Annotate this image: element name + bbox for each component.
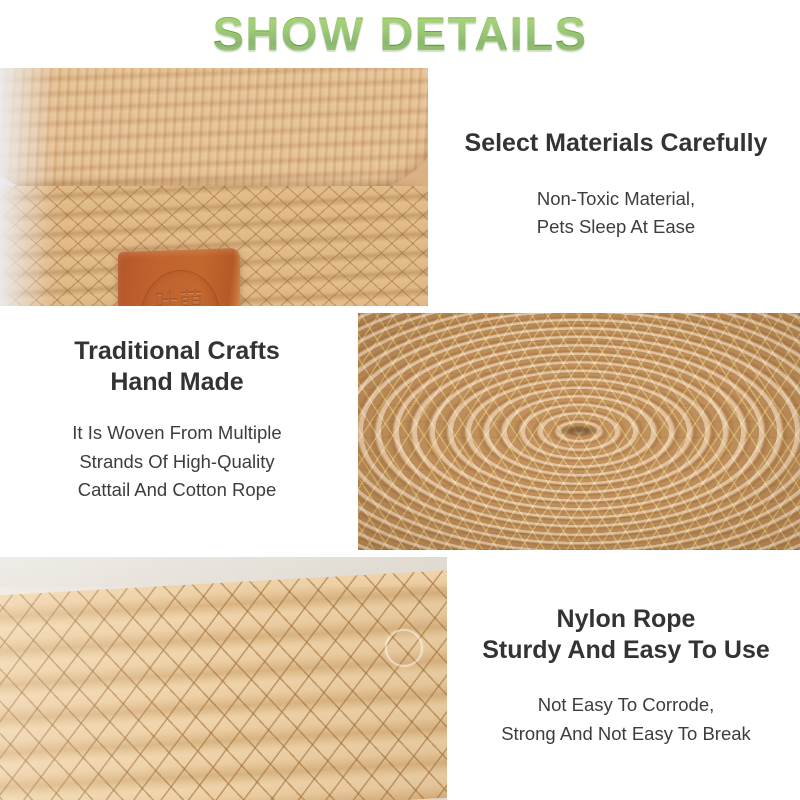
- feature-block-materials: Select Materials Carefully Non-Toxic Mat…: [432, 128, 800, 242]
- feature-body-crafts: It Is Woven From Multiple Strands Of Hig…: [6, 419, 348, 505]
- feature-body-materials: Non-Toxic Material, Pets Sleep At Ease: [432, 185, 800, 242]
- feature-block-crafts: Traditional Crafts Hand Made It Is Woven…: [6, 336, 348, 505]
- product-photo-basket-rim: 叶萌: [0, 68, 428, 306]
- page-title-bar: SHOW DETAILS: [0, 2, 800, 64]
- photo-left-fade: [0, 68, 54, 306]
- feature-heading-materials: Select Materials Carefully: [432, 128, 800, 159]
- feature-heading-nylon: Nylon Rope Sturdy And Easy To Use: [452, 604, 800, 665]
- side-wall-highlight: [0, 587, 447, 800]
- page-title: SHOW DETAILS: [213, 10, 588, 57]
- product-photo-side-wall: [0, 557, 447, 800]
- base-vignette: [358, 313, 800, 550]
- product-photo-woven-base: [358, 313, 800, 550]
- embossed-logo-mark: [385, 629, 423, 667]
- feature-heading-crafts: Traditional Crafts Hand Made: [6, 336, 348, 397]
- tag-logo-glyphs: 叶萌: [118, 288, 240, 306]
- feature-block-nylon: Nylon Rope Sturdy And Easy To Use Not Ea…: [452, 604, 800, 748]
- leather-brand-tag: 叶萌: [118, 248, 240, 306]
- feature-body-nylon: Not Easy To Corrode, Strong And Not Easy…: [452, 691, 800, 748]
